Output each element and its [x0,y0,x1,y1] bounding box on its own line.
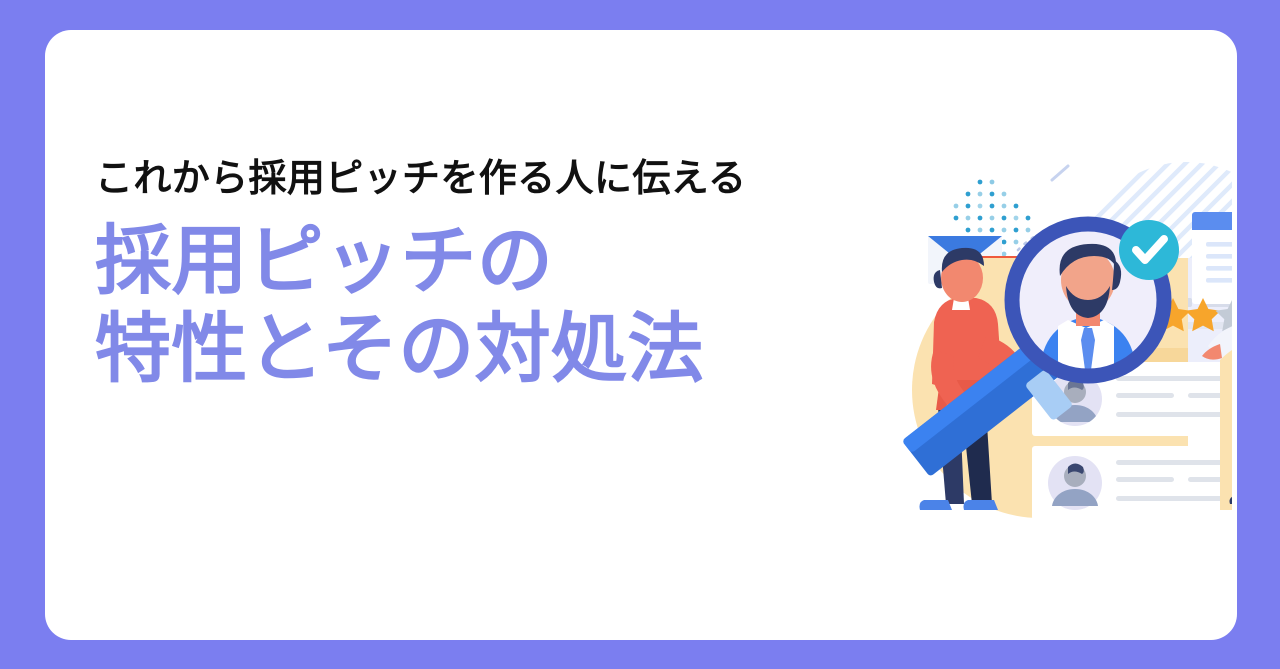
page-title: 採用ピッチの 特性とその対処法 [95,217,895,393]
subtitle-text: これから採用ピッチを作る人に伝える [95,155,895,203]
recruitment-illustration [900,140,1237,520]
verified-badge [1119,220,1179,280]
candidate-row-2 [1032,446,1237,520]
title-line-1: 採用ピッチの [95,217,895,305]
slide-canvas: これから採用ピッチを作る人に伝える 採用ピッチの 特性とその対処法 [0,0,1280,669]
tick-mark-top [1052,166,1068,180]
yellow-panel-right [1220,340,1237,510]
headline-block: これから採用ピッチを作る人に伝える 採用ピッチの 特性とその対処法 [95,155,895,393]
browser-window [1192,212,1237,304]
white-content-card: これから採用ピッチを作る人に伝える 採用ピッチの 特性とその対処法 [45,30,1237,640]
title-line-2: 特性とその対処法 [95,305,895,393]
